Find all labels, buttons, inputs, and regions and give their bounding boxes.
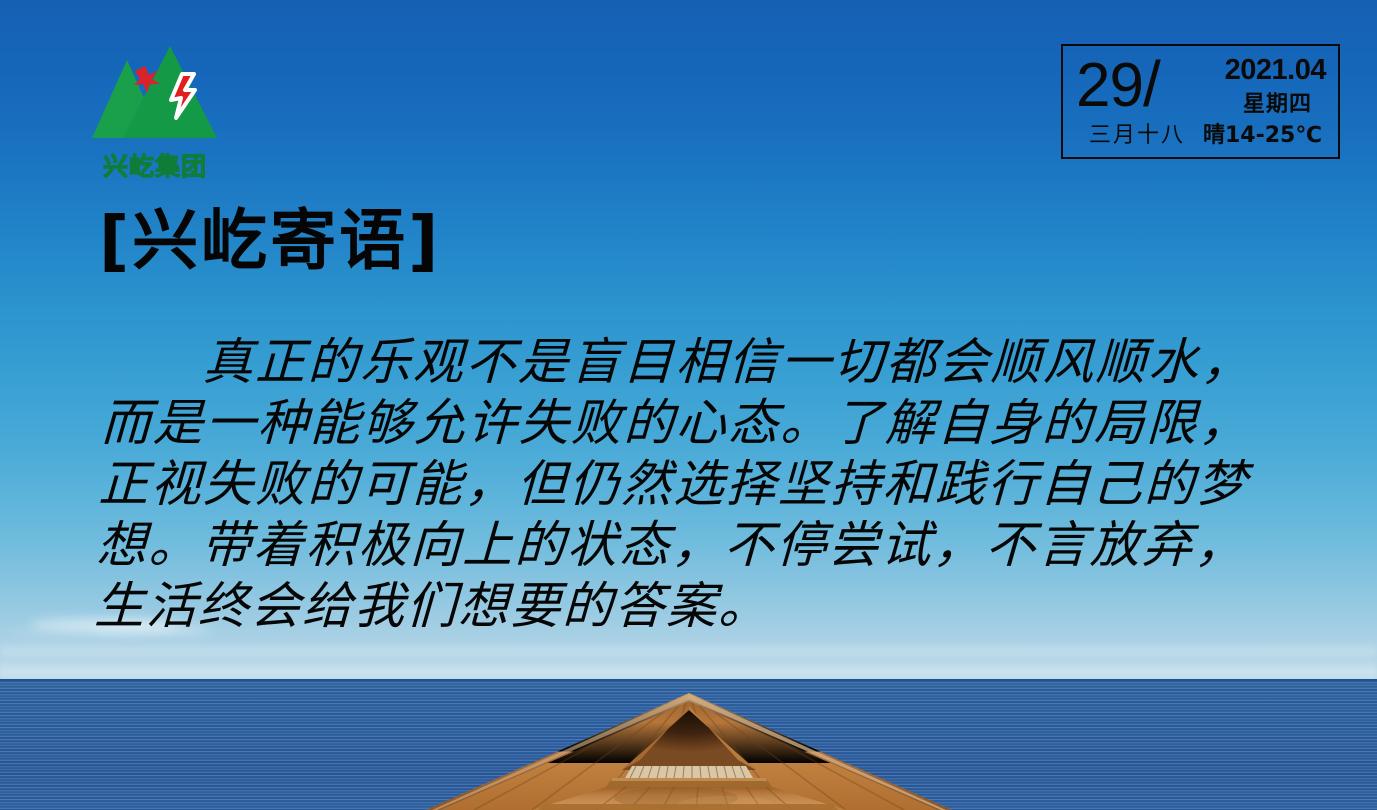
date-weather: 晴14-25℃ xyxy=(1203,125,1322,147)
date-weather-box: 29/ 2021.04 星期四 三月十八 晴14-25℃ xyxy=(1061,44,1340,159)
page-title: [兴屹寄语] xyxy=(99,205,441,278)
horizon-haze xyxy=(0,660,1377,679)
company-logo[interactable]: 兴屹集团 xyxy=(90,38,220,166)
date-lunar: 三月十八 xyxy=(1089,125,1185,147)
logo-company-name: 兴屹集团 xyxy=(90,154,220,179)
horizon-line xyxy=(0,679,1377,681)
daily-quote-poster: 兴屹集团 29/ 2021.04 星期四 三月十八 晴14-25℃ [兴屹寄语]… xyxy=(0,0,1377,810)
date-year-month: 2021.04 xyxy=(1225,56,1326,85)
horizon-haze xyxy=(0,640,1377,662)
logo-mark xyxy=(90,38,220,154)
quote-paragraph: 真正的乐观不是盲目相信一切都会顺风顺水，而是一种能够允许失败的心态。了解自身的局… xyxy=(93,332,1254,637)
date-day-number: 29 xyxy=(1076,51,1143,120)
sea-water xyxy=(0,679,1377,810)
date-day: 29/ xyxy=(1076,52,1160,117)
date-weekday: 星期四 xyxy=(1243,94,1312,116)
water-ripple-texture xyxy=(0,679,1377,810)
date-slash: / xyxy=(1143,48,1160,120)
